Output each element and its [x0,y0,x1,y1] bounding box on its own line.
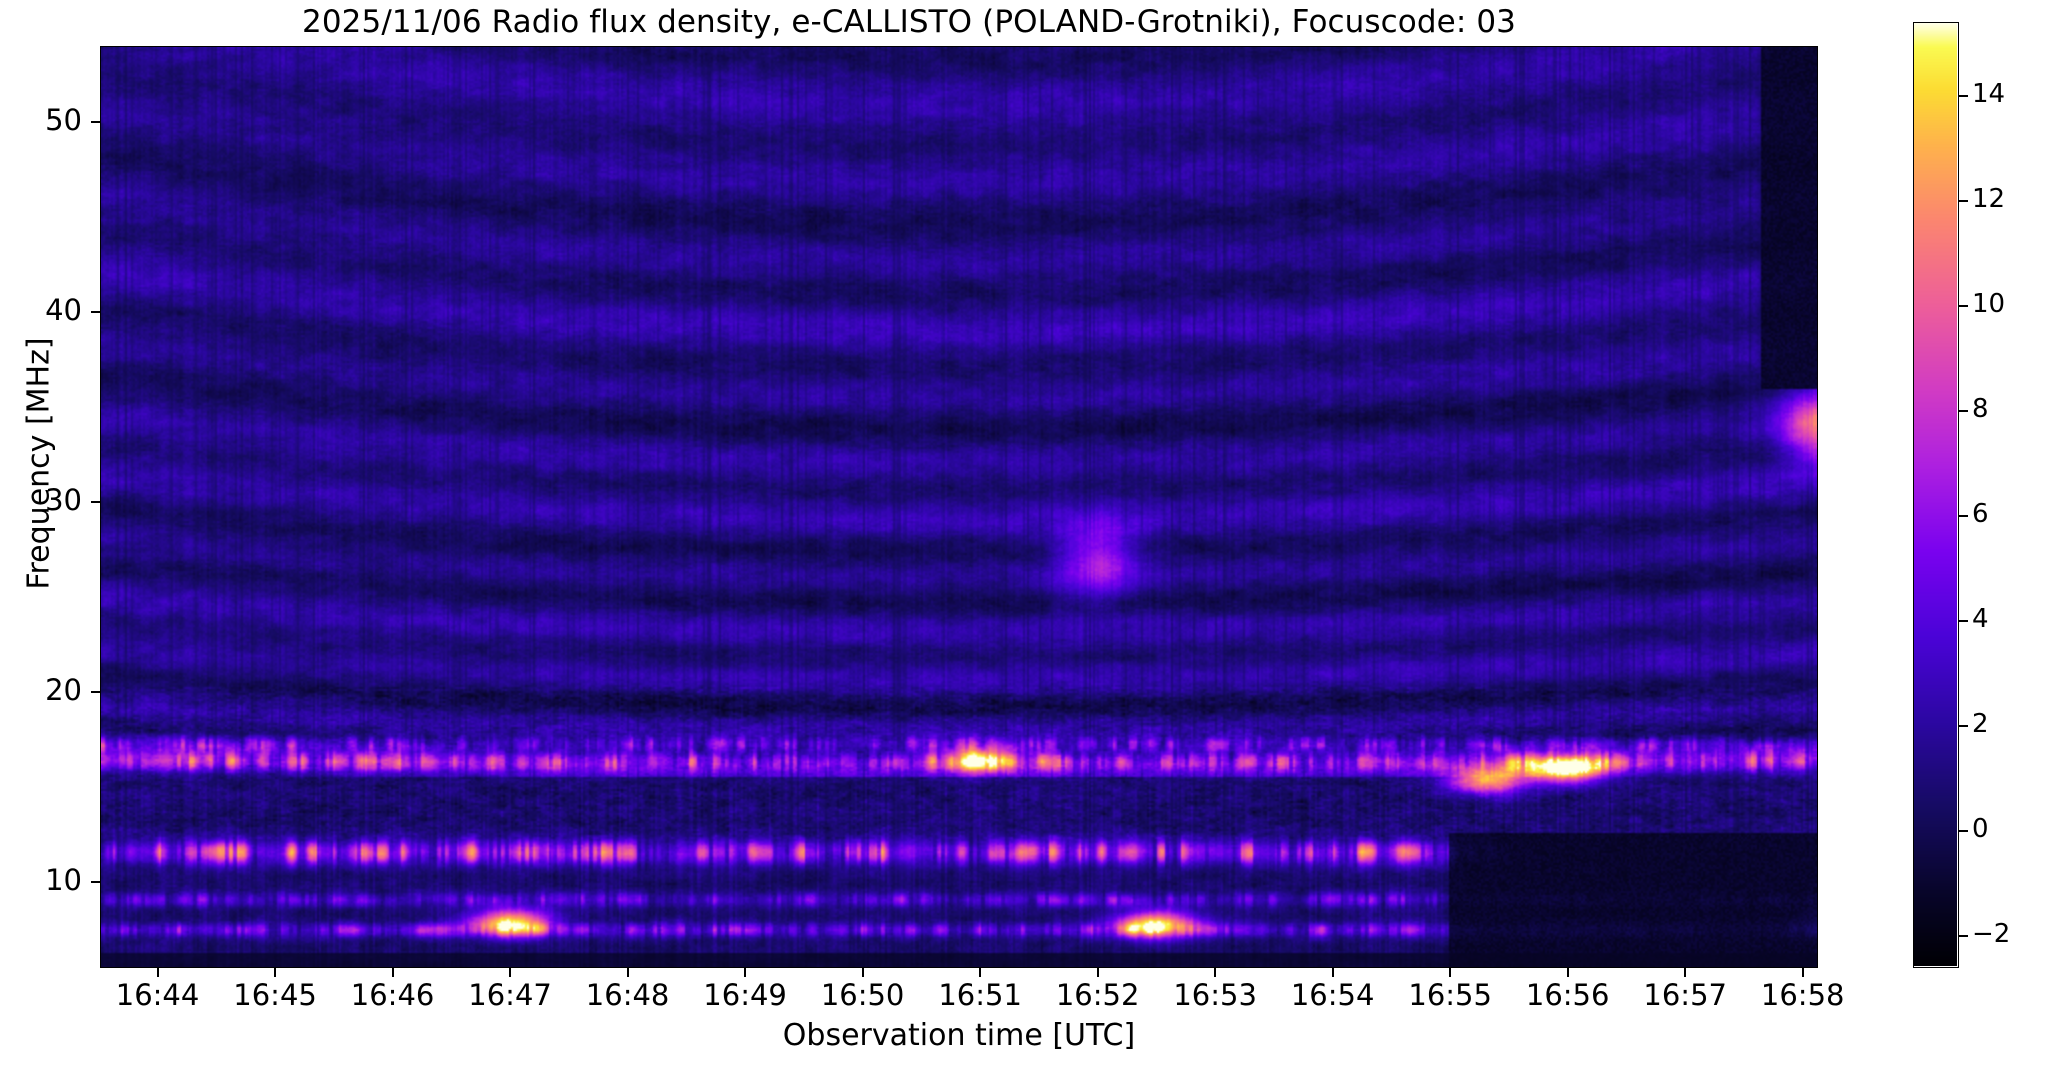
x-tick-mark [744,968,746,977]
x-tick-mark [274,968,276,977]
x-axis-label: Observation time [UTC] [100,1018,1818,1053]
x-tick-mark [627,968,629,977]
colorbar-tick-mark [1959,305,1968,307]
colorbar-tick-label: 2 [1972,709,1989,739]
x-tick-mark [392,968,394,977]
x-tick-mark [509,968,511,977]
y-tick-mark [91,121,100,123]
colorbar-tick-mark [1959,95,1968,97]
colorbar-tick-mark [1959,200,1968,202]
x-tick-label: 16:58 [1733,978,1873,1012]
x-tick-mark [1214,968,1216,977]
spectrogram-image [101,47,1817,967]
y-tick-label: 10 [12,863,82,897]
spectrogram-plot-area[interactable] [100,46,1818,968]
colorbar-tick-label: 4 [1972,604,1989,634]
x-tick-mark [1332,968,1334,977]
x-tick-mark [1684,968,1686,977]
colorbar-tick-mark [1959,410,1968,412]
colorbar-tick-mark [1959,620,1968,622]
x-tick-mark [1802,968,1804,977]
colorbar-tick-mark [1959,515,1968,517]
y-tick-mark [91,881,100,883]
colorbar-tick-label: 10 [1972,289,2005,319]
colorbar-gradient [1914,23,1957,966]
colorbar-tick-label: 6 [1972,499,1989,529]
x-tick-mark [1097,968,1099,977]
y-tick-label: 30 [12,483,82,517]
colorbar-tick-label: 12 [1972,184,2005,214]
x-tick-mark [1449,968,1451,977]
colorbar-tick-label: 0 [1972,814,1989,844]
colorbar-tick-label: 8 [1972,394,1989,424]
y-tick-label: 40 [12,293,82,327]
x-tick-mark [1567,968,1569,977]
colorbar-tick-mark [1959,935,1968,937]
x-tick-mark [979,968,981,977]
y-axis-label: Frequency [MHz] [22,3,57,925]
colorbar-tick-mark [1959,830,1968,832]
x-tick-mark [157,968,159,977]
x-tick-mark [862,968,864,977]
colorbar[interactable] [1913,22,1959,968]
y-tick-label: 50 [12,103,82,137]
y-tick-label: 20 [12,673,82,707]
y-tick-mark [91,691,100,693]
colorbar-tick-label: −2 [1972,919,2010,949]
spectrogram-figure: 2025/11/06 Radio flux density, e-CALLIST… [0,0,2047,1067]
figure-title: 2025/11/06 Radio flux density, e-CALLIST… [0,4,1818,40]
colorbar-tick-label: 14 [1972,79,2005,109]
y-tick-mark [91,501,100,503]
colorbar-tick-mark [1959,725,1968,727]
y-tick-mark [91,311,100,313]
